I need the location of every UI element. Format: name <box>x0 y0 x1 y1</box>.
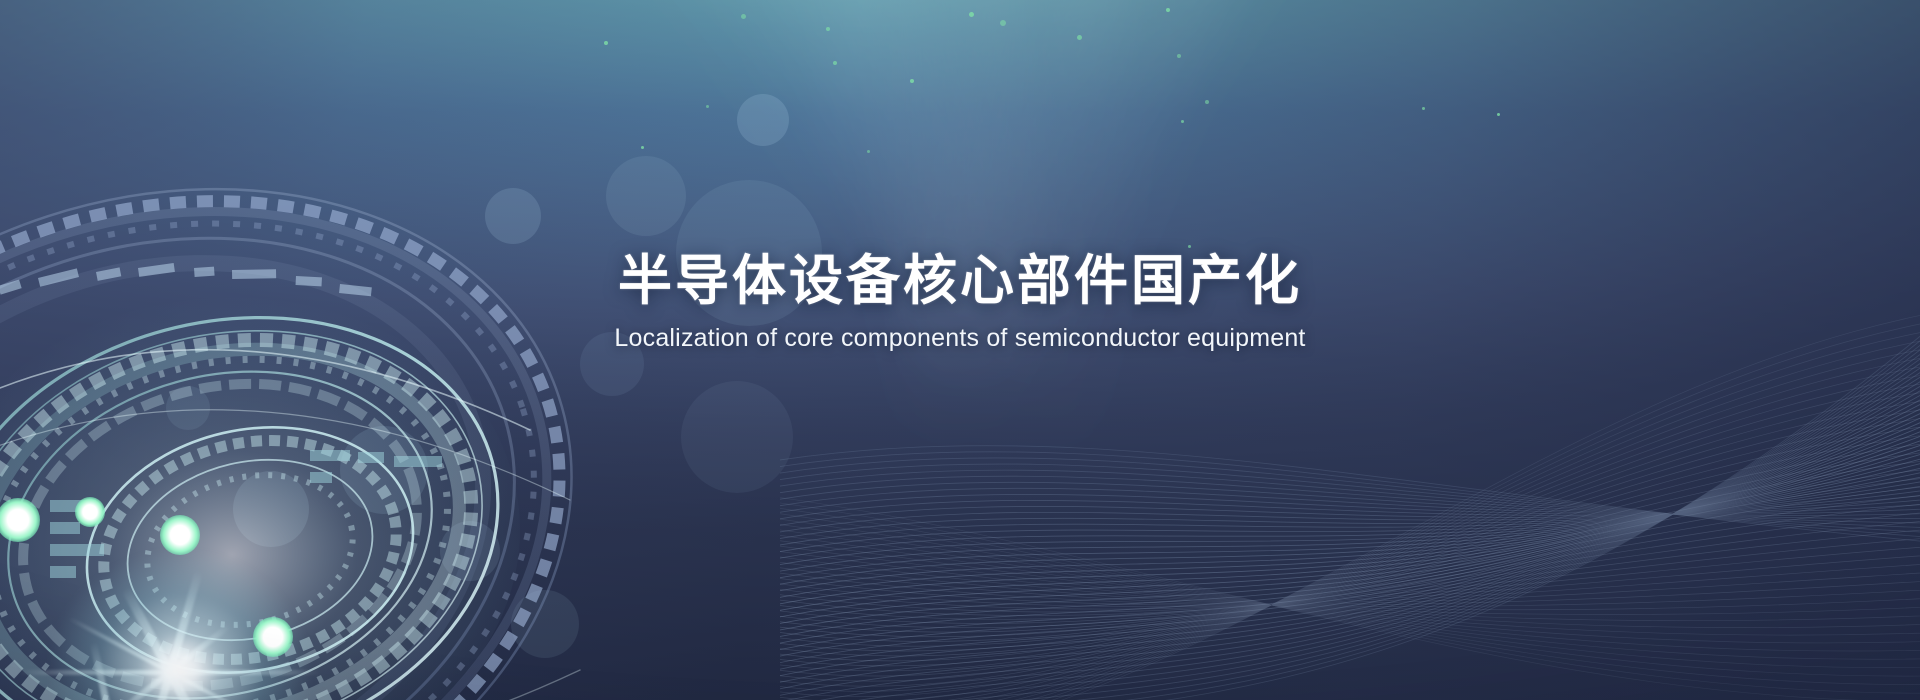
particle-dot-9 <box>604 41 608 45</box>
particle-dot-16 <box>867 150 870 153</box>
banner-text-block: 半导体设备核心部件国产化 Localization of core compon… <box>0 252 1920 353</box>
wireframe-mesh-wave <box>780 170 1920 700</box>
particle-dot-11 <box>1181 120 1184 123</box>
particle-dot-10 <box>1205 100 1209 104</box>
particle-dot-14 <box>1422 107 1425 110</box>
particle-dot-7 <box>1177 54 1181 58</box>
particle-dot-12 <box>910 79 914 83</box>
particle-dot-8 <box>833 61 837 65</box>
page-subtitle: Localization of core components of semic… <box>0 324 1920 353</box>
page-title: 半导体设备核心部件国产化 <box>0 252 1920 310</box>
particle-dot-13 <box>706 105 709 108</box>
particle-dot-2 <box>826 27 830 31</box>
bokeh-circle-6 <box>681 381 793 493</box>
particle-dot-6 <box>1166 8 1170 12</box>
particle-dot-5 <box>1077 35 1082 40</box>
hero-banner: 半导体设备核心部件国产化 Localization of core compon… <box>0 0 1920 700</box>
particle-dot-18 <box>641 146 644 149</box>
particle-dot-15 <box>1497 113 1500 116</box>
particle-dot-3 <box>969 12 974 17</box>
particle-dot-4 <box>1000 20 1006 26</box>
bokeh-circle-1 <box>737 94 789 146</box>
particle-dot-1 <box>741 14 746 19</box>
